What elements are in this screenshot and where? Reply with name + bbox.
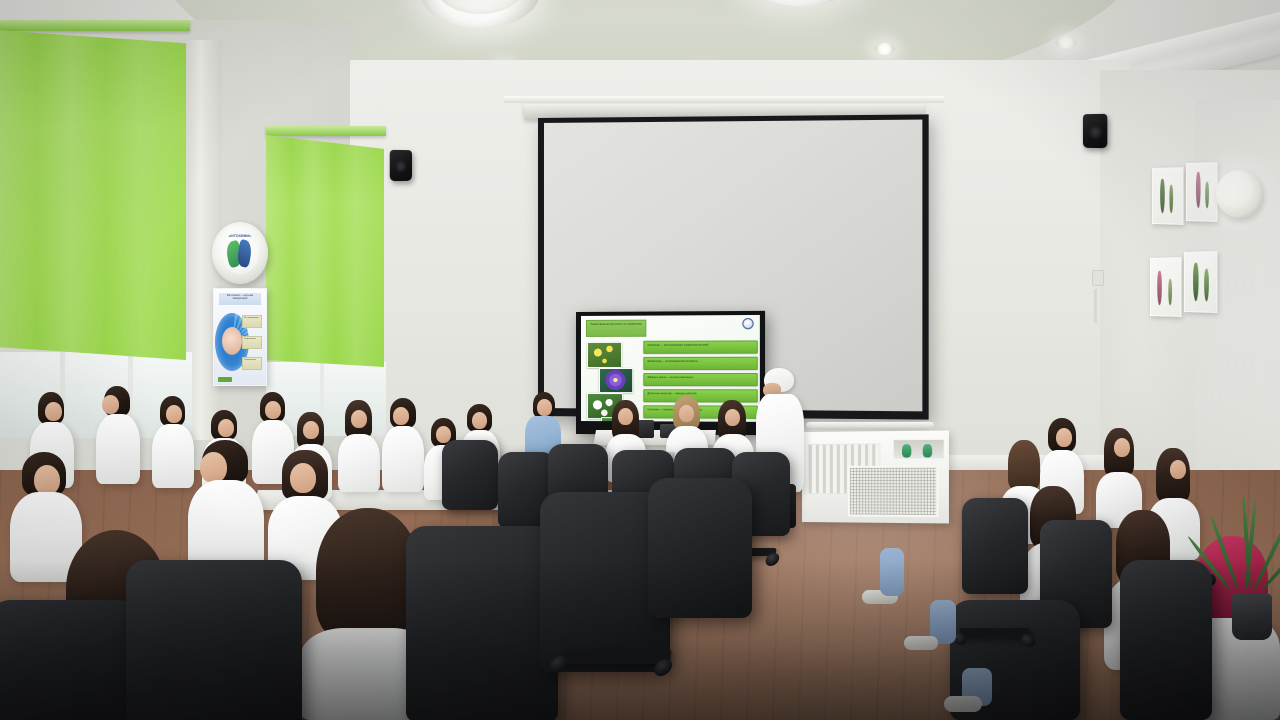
person-face bbox=[618, 408, 633, 425]
person-hair bbox=[1008, 440, 1040, 490]
potted-palm bbox=[1218, 440, 1280, 640]
slide-bullet-3: Эфирные масла — летучие компоненты bbox=[643, 373, 758, 386]
person-lab-coat bbox=[338, 434, 380, 492]
lecture-hall-photo: ФИТОХИМИЯ Фитохимия — научная лаборатори… bbox=[0, 0, 1280, 720]
plant-sprig bbox=[1157, 271, 1162, 305]
person-face bbox=[436, 426, 451, 443]
plant-sprig bbox=[1205, 182, 1209, 209]
poster-heading: Фитохимия — научная лаборатория bbox=[219, 293, 261, 305]
slide-logo-icon bbox=[742, 318, 753, 329]
poster-footer-tag bbox=[218, 377, 232, 382]
office-chair[interactable] bbox=[962, 498, 1028, 594]
plant-sprig bbox=[1193, 263, 1199, 302]
wall-speaker-icon-right bbox=[1083, 114, 1107, 148]
person-face bbox=[679, 405, 694, 422]
blind-rail-2[interactable] bbox=[266, 126, 386, 136]
downlight-icon bbox=[874, 43, 895, 55]
office-chair-foreground[interactable] bbox=[648, 478, 752, 618]
speaker-cone bbox=[1089, 125, 1102, 139]
person-face bbox=[1170, 460, 1186, 479]
logo-text: ФИТОХИМИЯ bbox=[221, 234, 259, 238]
person-face bbox=[218, 419, 234, 437]
slide-photo-purple-lotus bbox=[599, 368, 633, 393]
audience-person bbox=[338, 400, 380, 492]
radiator-cover bbox=[802, 431, 949, 524]
window-blind-2[interactable] bbox=[266, 135, 384, 367]
person-face bbox=[351, 410, 367, 428]
person-face bbox=[166, 405, 182, 423]
person-face bbox=[200, 452, 227, 483]
person-face bbox=[34, 465, 60, 495]
botanical-print-3 bbox=[1150, 257, 1181, 317]
office-chair-foreground[interactable] bbox=[0, 600, 140, 720]
slide-photo-yellow-flowers bbox=[587, 342, 622, 368]
radiator-pipe bbox=[806, 422, 934, 428]
person-face bbox=[265, 401, 281, 419]
downlight-icon bbox=[1055, 36, 1077, 49]
radiator-mesh-panel bbox=[848, 466, 939, 518]
person-jeans bbox=[880, 548, 904, 596]
person-face bbox=[472, 412, 487, 429]
poster-box-2: Разработки bbox=[242, 336, 262, 349]
plant-sprig bbox=[1204, 269, 1209, 302]
speaker-cone bbox=[395, 160, 407, 173]
person-face bbox=[303, 421, 319, 439]
office-chair-foreground[interactable] bbox=[406, 526, 558, 720]
slide-bullet-1: Алкалоиды — азотсодержащие соединения ра… bbox=[643, 340, 758, 353]
audience-person bbox=[382, 398, 424, 492]
plant-frond bbox=[1252, 514, 1280, 591]
audience-person-foreground bbox=[188, 440, 264, 576]
screen-mount-rail bbox=[504, 96, 944, 103]
assistant-face bbox=[537, 399, 552, 416]
wall-poster: Фитохимия — научная лаборатория Исследов… bbox=[213, 288, 267, 386]
chair-base bbox=[959, 628, 1031, 638]
wall-sensor-icon bbox=[1092, 270, 1104, 286]
plant-sprig bbox=[1160, 179, 1165, 213]
wall-speaker-icon-left bbox=[390, 150, 412, 181]
chair-base bbox=[560, 650, 673, 664]
office-chair[interactable] bbox=[442, 440, 498, 510]
office-chair-foreground[interactable] bbox=[126, 560, 302, 720]
person-face bbox=[393, 407, 409, 425]
audience-person bbox=[96, 386, 140, 484]
window-blind-1[interactable] bbox=[0, 30, 186, 360]
plant-sprig bbox=[1168, 279, 1172, 306]
wall-light-icon bbox=[1216, 170, 1262, 218]
plant-pot bbox=[1232, 594, 1272, 640]
office-chair-foreground[interactable] bbox=[1120, 560, 1212, 720]
sneaker-icon bbox=[944, 696, 982, 712]
person-face bbox=[725, 409, 740, 426]
botanical-print-1 bbox=[1152, 167, 1183, 225]
botanical-print-2 bbox=[1186, 162, 1217, 222]
radiator-shelf bbox=[893, 439, 945, 460]
green-trinket-icon bbox=[923, 444, 932, 457]
person-face bbox=[45, 402, 62, 421]
plant-sprig bbox=[1196, 172, 1201, 209]
botanical-print-4 bbox=[1184, 251, 1217, 313]
slide-title: Лекарственные растения и их применение bbox=[586, 320, 646, 337]
logo-inner: ФИТОХИМИЯ bbox=[221, 232, 259, 274]
person-face bbox=[290, 463, 316, 493]
person-face bbox=[1056, 428, 1072, 447]
blind-rail-1[interactable] bbox=[0, 20, 190, 31]
person-hair bbox=[316, 508, 420, 640]
plant-sprig bbox=[1169, 185, 1173, 214]
person-lab-coat bbox=[96, 414, 140, 484]
person-face bbox=[102, 395, 119, 414]
poster-box-1: Исследования bbox=[242, 315, 262, 328]
person-lab-coat bbox=[382, 426, 424, 492]
institute-logo-plaque: ФИТОХИМИЯ bbox=[212, 222, 268, 284]
poster-face-image bbox=[222, 327, 242, 355]
green-trinket-icon bbox=[902, 444, 911, 457]
poster-box-3: Технологии bbox=[242, 357, 262, 370]
sneaker-icon bbox=[904, 636, 938, 650]
wall-conduit bbox=[1094, 289, 1097, 323]
slide-bullet-2: Флавоноиды — антиоксидантная активность bbox=[643, 357, 758, 370]
person-face bbox=[1114, 438, 1130, 457]
